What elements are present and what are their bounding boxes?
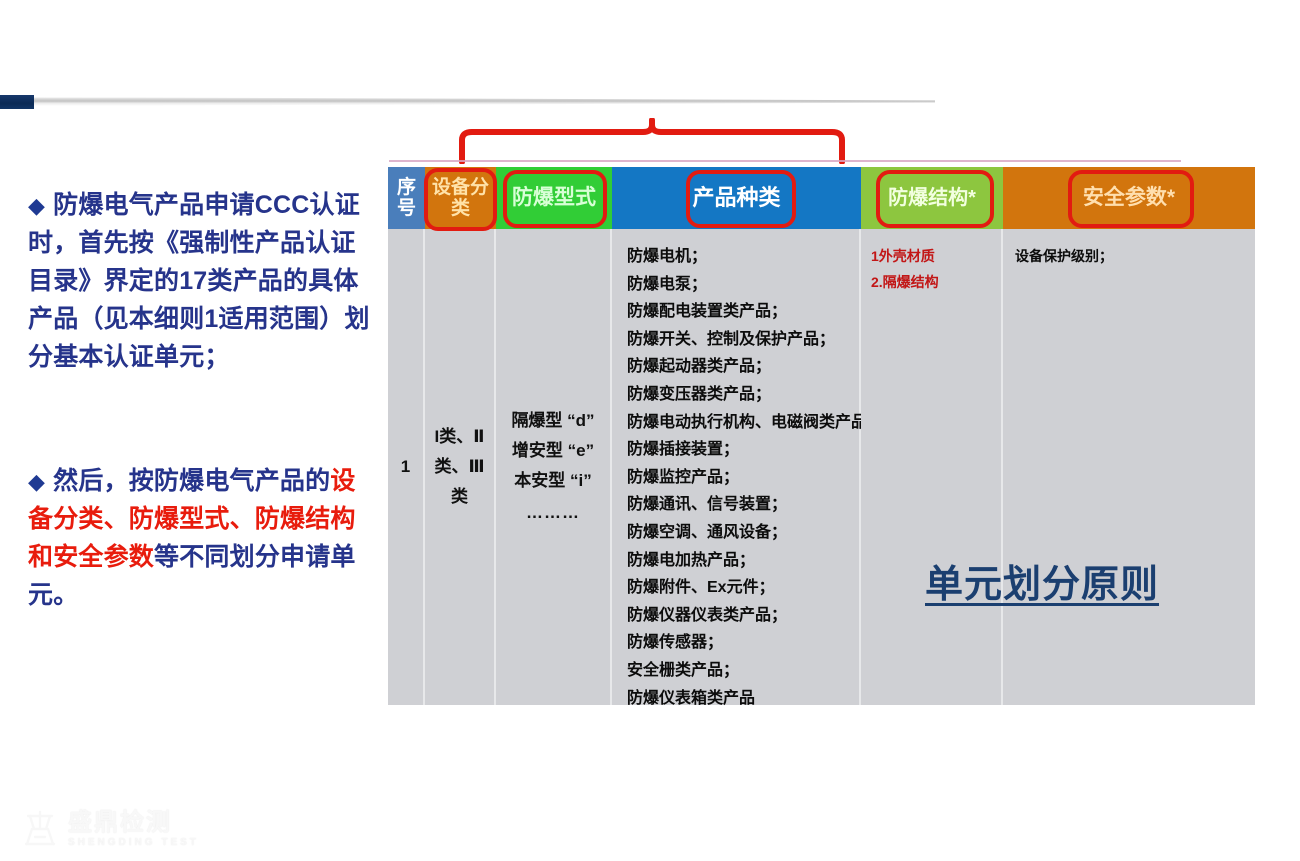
list-item: 防爆监控产品； — [627, 464, 859, 492]
paragraph-2: ◆然后，按防爆电气产品的设备分类、防爆型式、防爆结构和安全参数等不同划分申请单元… — [28, 462, 378, 614]
protection-type-ellipsis: ……… — [511, 498, 594, 528]
list-item: 防爆变压器类产品； — [627, 381, 859, 409]
red-brace-annotation — [455, 118, 850, 164]
left-text-block: ◆防爆电气产品申请CCC认证时，首先按《强制性产品认证目录》界定的17类产品的具… — [28, 186, 378, 614]
slide-canvas: ◆防爆电气产品申请CCC认证时，首先按《强制性产品认证目录》界定的17类产品的具… — [0, 0, 1300, 861]
list-item: 防爆配电装置类产品； — [627, 298, 859, 326]
diamond-bullet-icon: ◆ — [28, 193, 45, 218]
cell-product-kinds: 防爆电机； 防爆电泵； 防爆配电装置类产品； 防爆开关、控制及保护产品； 防爆起… — [612, 229, 861, 705]
explosion-structure-list: 1外壳材质 2.隔爆结构 — [871, 243, 1001, 295]
cell-safety-parameters: 设备保护级别； — [1003, 229, 1255, 705]
paragraph-1-text: 防爆电气产品申请CCC认证时，首先按《强制性产品认证目录》界定的17类产品的具体… — [28, 191, 370, 371]
cell-equipment-class: I类、Ⅱ类、Ⅲ类 — [425, 229, 496, 705]
table-top-accent-rule — [389, 160, 1181, 162]
unit-division-table: 序号 设备分类 防爆型式 产品种类 防爆结构* 安全参数* 1 I类 — [388, 167, 1255, 705]
paragraph-1: ◆防爆电气产品申请CCC认证时，首先按《强制性产品认证目录》界定的17类产品的具… — [28, 186, 378, 376]
product-kind-list: 防爆电机； 防爆电泵； 防爆配电装置类产品； 防爆开关、控制及保护产品； 防爆起… — [627, 243, 859, 712]
page-title: 单元划分原则 — [925, 553, 1159, 608]
header-divider-square — [0, 95, 34, 109]
column-header-explosion-structure[interactable]: 防爆结构* — [861, 167, 1003, 229]
protection-type-item: 增安型 “e” — [511, 436, 594, 466]
diamond-bullet-icon: ◆ — [28, 469, 45, 494]
column-header-product-kind[interactable]: 产品种类 — [612, 167, 861, 229]
list-item: 防爆仪器仪表类产品； — [627, 602, 859, 630]
protection-type-item: 本安型 “i” — [511, 466, 594, 496]
table-header-row: 序号 设备分类 防爆型式 产品种类 防爆结构* 安全参数* — [388, 167, 1255, 229]
list-item: 防爆电机； — [627, 243, 859, 271]
column-header-safety-parameters[interactable]: 安全参数* — [1003, 167, 1255, 229]
list-item: 1外壳材质 — [871, 243, 1001, 269]
paragraph-2-lead: 然后，按防爆电气产品的 — [53, 467, 330, 495]
list-item: 设备保护级别； — [1015, 243, 1255, 269]
protection-type-list: 隔爆型 “d” 增安型 “e” 本安型 “i” ……… — [511, 406, 594, 529]
protection-type-item: 隔爆型 “d” — [511, 406, 594, 436]
list-item: 防爆插接装置； — [627, 436, 859, 464]
list-item: 防爆附件、Ex元件； — [627, 574, 859, 602]
cell-seq: 1 — [388, 229, 425, 705]
cell-protection-type: 隔爆型 “d” 增安型 “e” 本安型 “i” ……… — [496, 229, 612, 705]
column-header-protection-type[interactable]: 防爆型式 — [496, 167, 612, 229]
watermark-logo: 盛鼎检测 SHENGDING TEST — [18, 800, 208, 858]
list-item: 防爆仪表箱类产品 — [627, 685, 859, 713]
table-body-row: 1 I类、Ⅱ类、Ⅲ类 隔爆型 “d” 增安型 “e” 本安型 “i” ……… 防… — [388, 229, 1255, 705]
list-item: 防爆起动器类产品； — [627, 353, 859, 381]
list-item: 2.隔爆结构 — [871, 269, 1001, 295]
watermark-en: SHENGDING TEST — [68, 838, 199, 848]
list-item: 防爆开关、控制及保护产品； — [627, 326, 859, 354]
shengding-mark-icon — [18, 807, 62, 851]
watermark-text: 盛鼎检测 SHENGDING TEST — [68, 811, 199, 848]
list-item: 防爆电加热产品； — [627, 547, 859, 575]
list-item: 防爆电动执行机构、电磁阀类产品； — [627, 409, 859, 437]
list-item: 防爆传感器； — [627, 629, 859, 657]
list-item: 防爆通讯、信号装置； — [627, 491, 859, 519]
list-item: 防爆空调、通风设备； — [627, 519, 859, 547]
safety-parameter-list: 设备保护级别； — [1015, 243, 1255, 269]
list-item: 防爆电泵； — [627, 271, 859, 299]
header-divider-line — [34, 97, 935, 106]
column-header-seq[interactable]: 序号 — [388, 167, 425, 229]
cell-explosion-structure: 1外壳材质 2.隔爆结构 — [861, 229, 1003, 705]
list-item: 安全栅类产品； — [627, 657, 859, 685]
header-divider — [0, 95, 935, 109]
watermark-cn: 盛鼎检测 — [68, 811, 199, 835]
column-header-equipment-class[interactable]: 设备分类 — [425, 167, 496, 229]
